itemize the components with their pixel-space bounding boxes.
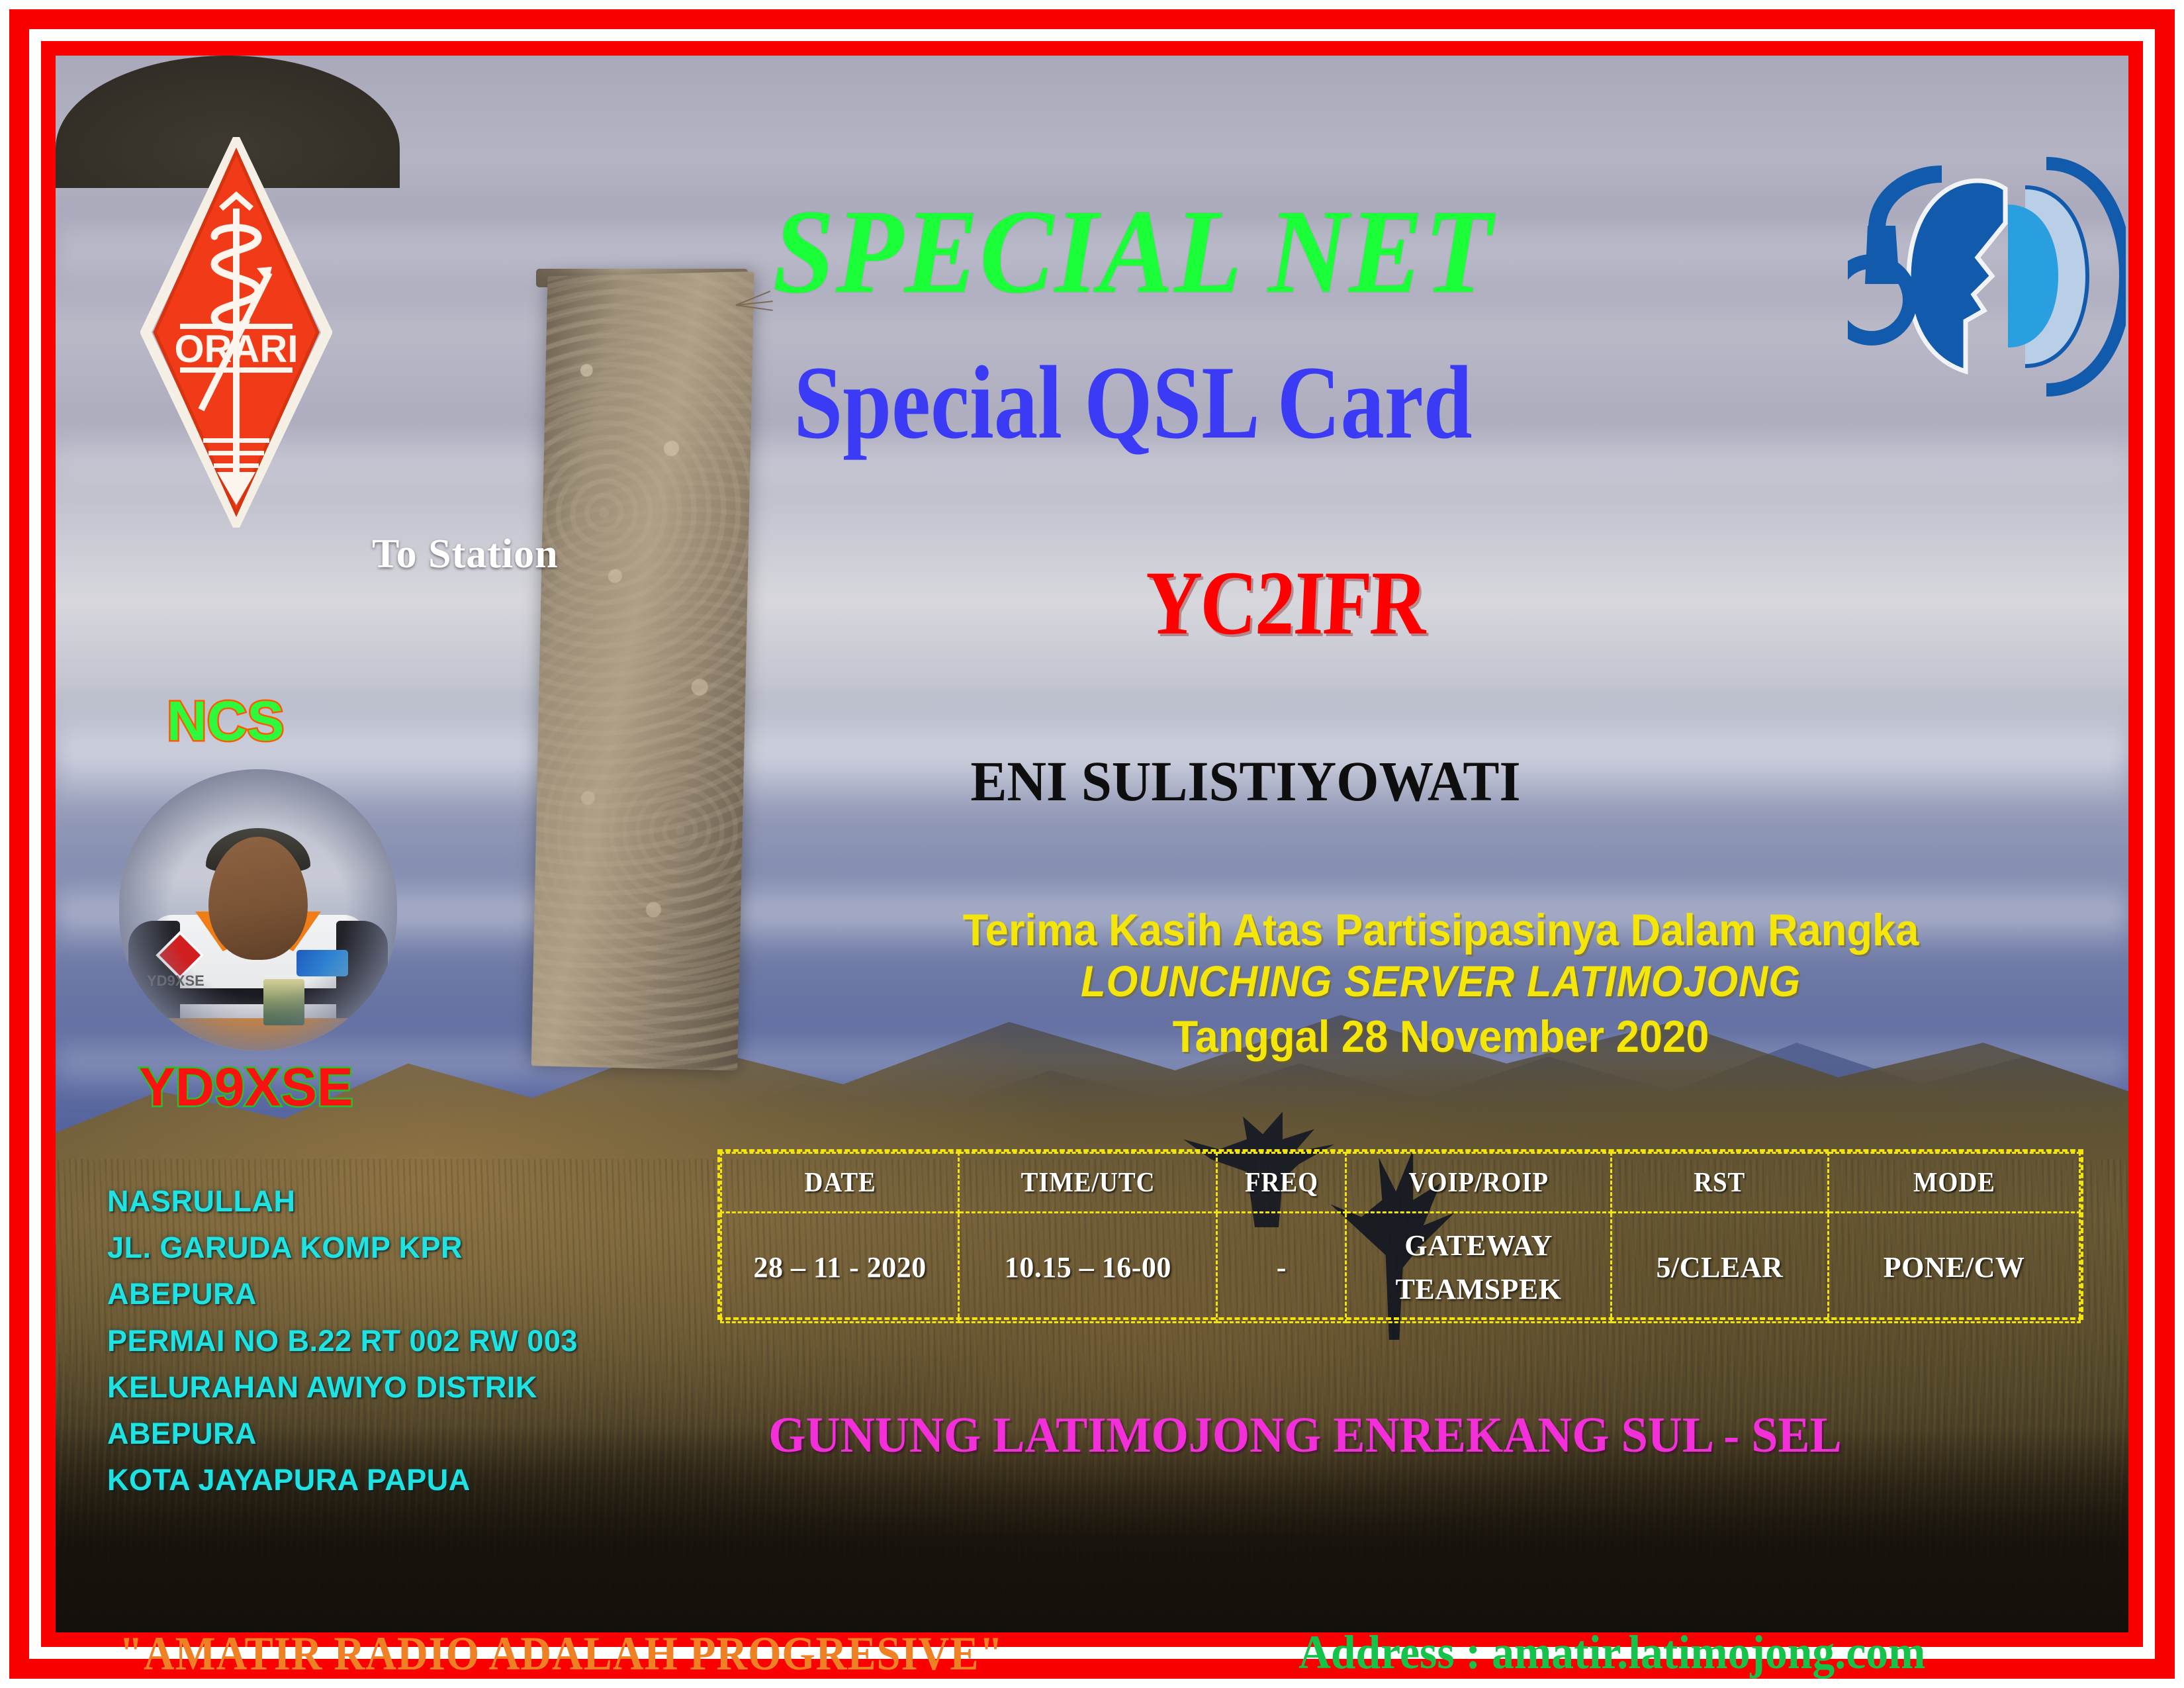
location-text: GUNUNG LATIMOJONG ENREKANG SUL - SEL xyxy=(708,1410,1903,1460)
column-header-mode: MODE xyxy=(1839,1153,2070,1213)
to-station-label: To Station xyxy=(372,531,559,578)
footer-web-address: Address : amatir.latimojong.com xyxy=(1298,1628,1925,1676)
event-line-1: Terima Kasih Atas Partisipasinya Dalam R… xyxy=(829,905,2054,955)
column-header-voip: VOIP/ROIP xyxy=(1357,1153,1600,1213)
footer-motto: "AMATIR RADIO ADALAH PROGRESIVE" xyxy=(119,1630,1003,1677)
white-border-gap: ORARI xyxy=(29,29,2155,1659)
cell-voip-line-2: TEAMSPEK xyxy=(1347,1268,1610,1311)
table-row: 28 – 11 - 2020 10.15 – 16-00 - GATEWAY T… xyxy=(721,1213,2080,1323)
cell-mode: PONE/CW xyxy=(1829,1213,2080,1323)
table-header-row: DATE TIME/UTC FREQ VOIP/ROIP RST MODE xyxy=(721,1153,2080,1213)
qsl-card: ORARI xyxy=(0,0,2184,1688)
ncs-callsign: YD9XSE xyxy=(139,1060,353,1115)
address-line: KOTA JAYAPURA PAPUA xyxy=(107,1457,690,1503)
address-line: ABEPURA xyxy=(107,1411,690,1457)
cell-rst: 5/CLEAR xyxy=(1611,1213,1828,1323)
address-line: KELURAHAN AWIYO DISTRIK xyxy=(107,1364,690,1411)
cell-voip: GATEWAY TEAMSPEK xyxy=(1346,1213,1611,1323)
column-header-rst: RST xyxy=(1619,1153,1819,1213)
card-content: ORARI xyxy=(41,41,2143,1647)
address-line: JL. GARUDA KOMP KPR xyxy=(107,1225,690,1271)
event-line-2: LOUNCHING SERVER LATIMOJONG xyxy=(829,955,2054,1008)
event-message: Terima Kasih Atas Partisipasinya Dalam R… xyxy=(782,905,2099,1066)
outer-red-border: ORARI xyxy=(9,9,2175,1679)
inner-red-border: ORARI xyxy=(41,41,2143,1647)
cell-voip-line-1: GATEWAY xyxy=(1347,1224,1610,1268)
address-line: PERMAI NO B.22 RT 002 RW 003 xyxy=(107,1318,690,1364)
ncs-operator-photo: YD9XSE xyxy=(119,769,397,1051)
station-address: NASRULLAH JL. GARUDA KOMP KPR ABEPURA PE… xyxy=(107,1178,690,1503)
page-title: SPECIAL NET xyxy=(128,192,2138,312)
ncs-label: NCS xyxy=(167,693,284,749)
event-line-3: Tanggal 28 November 2020 xyxy=(829,1008,2054,1066)
column-header-date: DATE xyxy=(731,1153,950,1213)
station-callsign: YC2IFR xyxy=(999,557,1572,649)
address-line: NASRULLAH xyxy=(107,1178,690,1225)
qso-log-table: DATE TIME/UTC FREQ VOIP/ROIP RST MODE xyxy=(717,1149,2083,1320)
cell-time: 10.15 – 16-00 xyxy=(959,1213,1217,1323)
photo-vignette xyxy=(119,769,397,1051)
operator-name: ENI SULISTIYOWATI xyxy=(807,753,1684,810)
cell-date: 28 – 11 - 2020 xyxy=(721,1213,959,1323)
column-header-freq: FREQ xyxy=(1222,1153,1341,1213)
cell-freq: - xyxy=(1217,1213,1346,1323)
page-subtitle: Special QSL Card xyxy=(216,351,2050,455)
address-line: ABEPURA xyxy=(107,1271,690,1317)
column-header-time: TIME/UTC xyxy=(969,1153,1206,1213)
